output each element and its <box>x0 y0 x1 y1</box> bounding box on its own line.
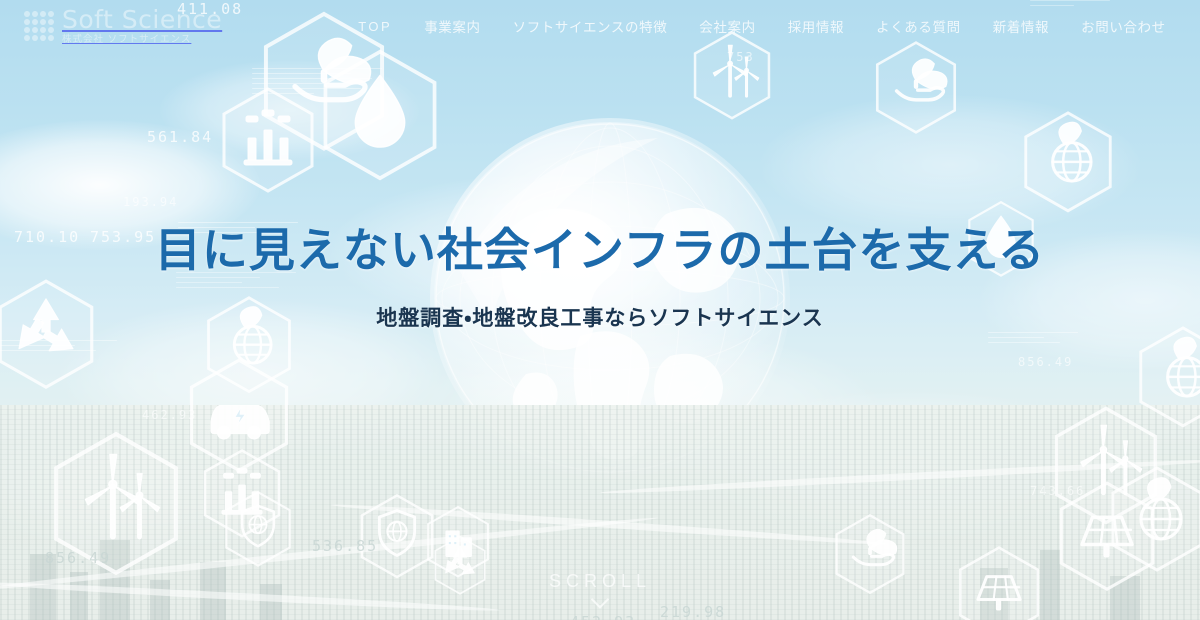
nav-item-6[interactable]: よくある質問 <box>860 16 977 36</box>
hud-lines <box>0 340 130 355</box>
nav-item-8[interactable]: お問い合わせ <box>1065 16 1182 36</box>
nav-item-7[interactable]: 新着情報 <box>977 16 1065 36</box>
main-navigation: TOP事業案内ソフトサイエンスの特徴会社案内採用情報よくある質問新着情報お問い合… <box>342 16 1182 36</box>
scroll-indicator-label[interactable]: SCROLL <box>0 571 1200 592</box>
globe-leaf-icon <box>1020 110 1116 214</box>
page-title: 目に見えない社会インフラの土台を支える <box>0 222 1200 280</box>
logo-dot-mark-icon <box>24 11 54 41</box>
plant-in-hand-icon <box>872 40 960 135</box>
nav-item-4[interactable]: 会社案内 <box>683 16 771 36</box>
logo-japanese-name: 株式会社 ソフトサイエンス <box>62 35 222 45</box>
cloud-decoration <box>160 60 420 160</box>
site-header: Soft Science 株式会社 ソフトサイエンス TOP事業案内ソフトサイエ… <box>0 0 1200 52</box>
hero-copy: 目に見えない社会インフラの土台を支える 地盤調査・地盤改良工事ならソフトサイエン… <box>0 222 1200 332</box>
factory-icon <box>218 86 318 194</box>
hud-lines <box>988 332 1078 347</box>
logo-english-name: Soft Science <box>62 7 222 32</box>
overlay-number: 856.49 <box>1018 355 1073 369</box>
cloud-decoration <box>760 95 1140 235</box>
page-subtitle: 地盤調査・地盤改良工事ならソフトサイエンス <box>0 302 1200 332</box>
site-logo[interactable]: Soft Science 株式会社 ソフトサイエンス <box>24 7 222 45</box>
hud-lines <box>252 68 382 98</box>
nav-item-1[interactable]: TOP <box>342 19 408 34</box>
water-drop-icon <box>318 48 442 182</box>
overlay-number: 753 <box>727 50 755 64</box>
nav-item-2[interactable]: 事業案内 <box>408 16 496 36</box>
overlay-number: 561.84 <box>147 128 213 146</box>
nav-item-3[interactable]: ソフトサイエンスの特徴 <box>497 16 684 36</box>
hero-section: 411.08561.84193.94710.10753.95462.93856.… <box>0 0 1200 620</box>
logo-text: Soft Science 株式会社 ソフトサイエンス <box>62 7 222 45</box>
nav-item-5[interactable]: 採用情報 <box>772 16 860 36</box>
overlay-number: 193.94 <box>123 195 178 209</box>
